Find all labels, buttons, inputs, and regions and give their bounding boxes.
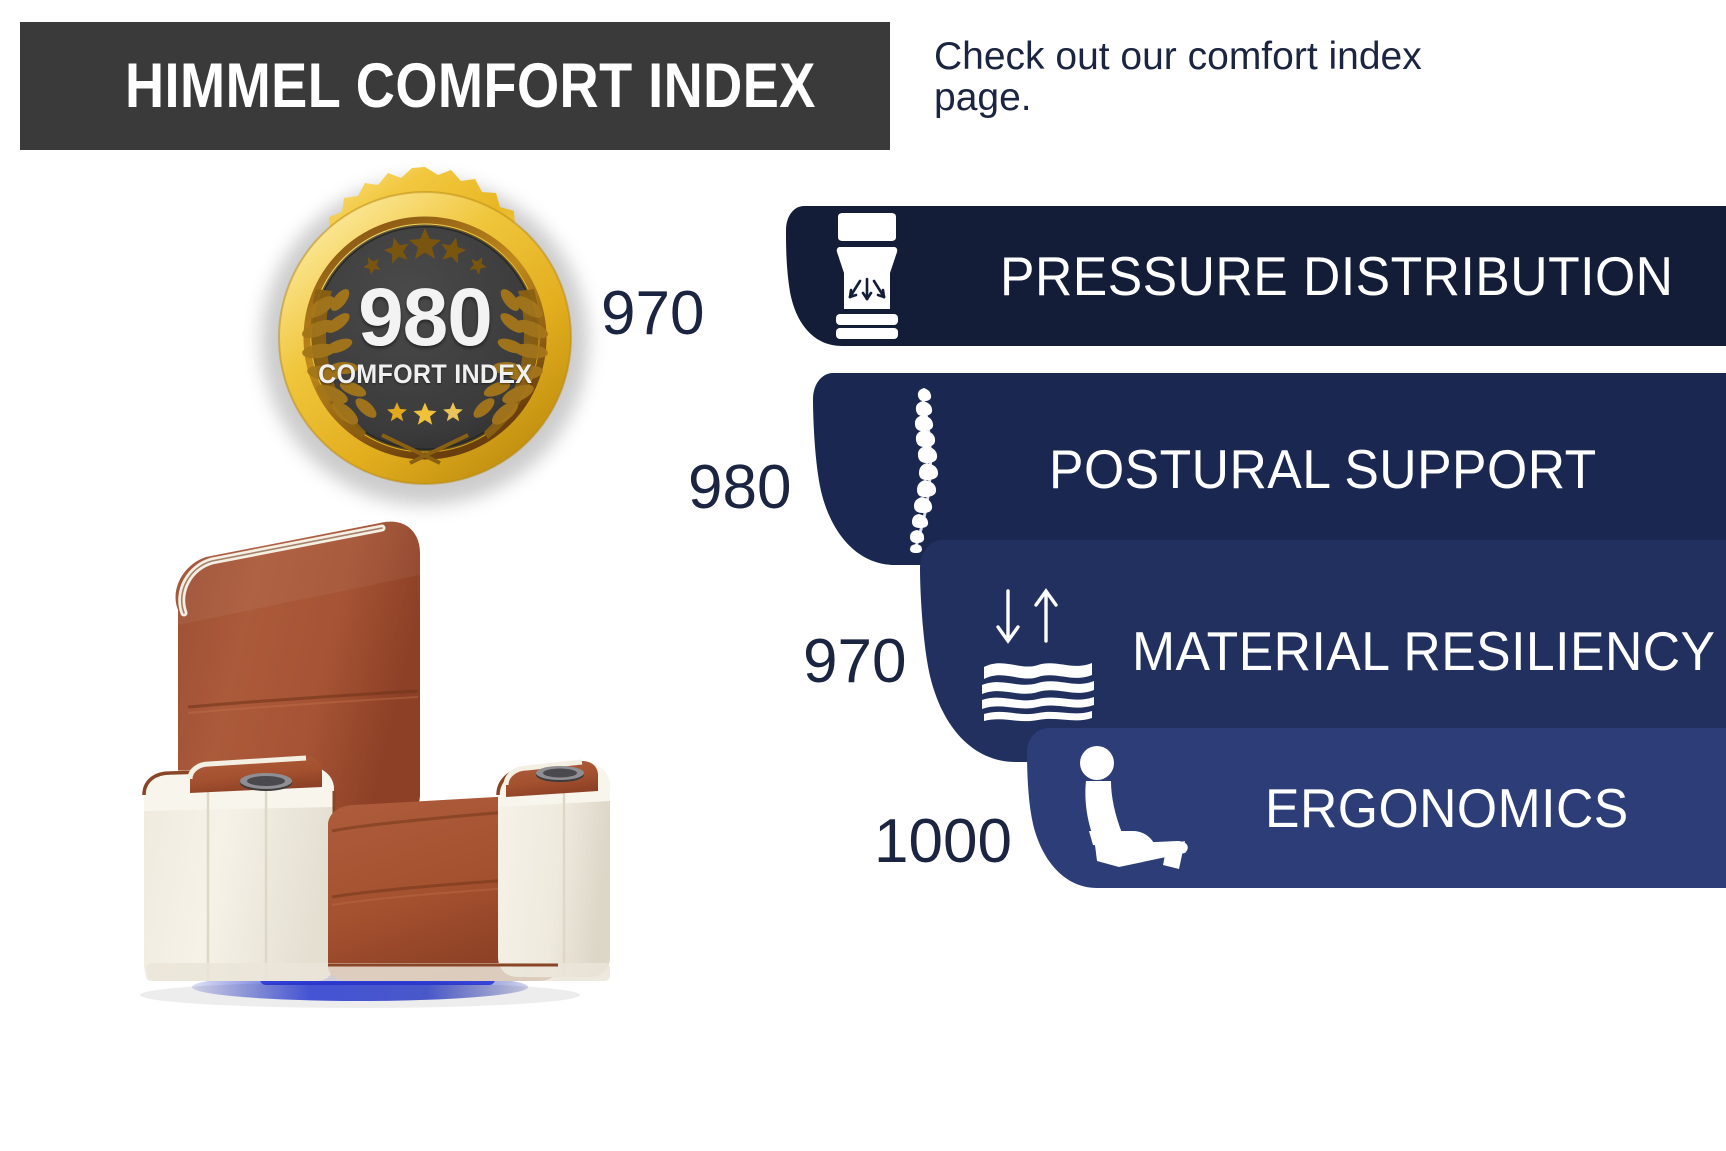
metric-label-2: MATERIAL RESILIENCY xyxy=(1132,619,1716,683)
infographic-canvas: HIMMEL COMFORT INDEX Check out our comfo… xyxy=(0,0,1726,1151)
spine-icon xyxy=(877,384,967,554)
seated-person-icon xyxy=(1059,733,1199,883)
metric-label-0: PRESSURE DISTRIBUTION xyxy=(1000,244,1673,308)
metric-label-3: ERGONOMICS xyxy=(1265,776,1629,840)
page-title: HIMMEL COMFORT INDEX xyxy=(125,50,816,122)
title-plate: HIMMEL COMFORT INDEX xyxy=(20,22,890,150)
metric-score-0: 970 xyxy=(601,278,704,349)
chair-right-arm xyxy=(498,761,610,977)
metric-bar-3: ERGONOMICS xyxy=(1027,728,1726,888)
foam-layers-arrows-icon xyxy=(972,571,1102,731)
gold-award-medal-icon xyxy=(254,167,596,509)
metric-label-1: POSTURAL SUPPORT xyxy=(1049,437,1597,501)
product-image-recliner xyxy=(60,495,630,1030)
chair-left-arm xyxy=(144,757,334,981)
cushion-pressure-icon xyxy=(812,211,922,341)
metric-score-1: 980 xyxy=(688,452,791,523)
metric-score-2: 970 xyxy=(803,626,906,697)
comfort-index-badge: 980 COMFORT INDEX xyxy=(254,167,596,509)
metric-bar-0: PRESSURE DISTRIBUTION xyxy=(786,206,1726,346)
metric-score-3: 1000 xyxy=(874,806,1012,877)
metric-bar-1: POSTURAL SUPPORT xyxy=(813,373,1726,565)
subtitle-text: Check out our comfort index page. xyxy=(934,36,1494,119)
